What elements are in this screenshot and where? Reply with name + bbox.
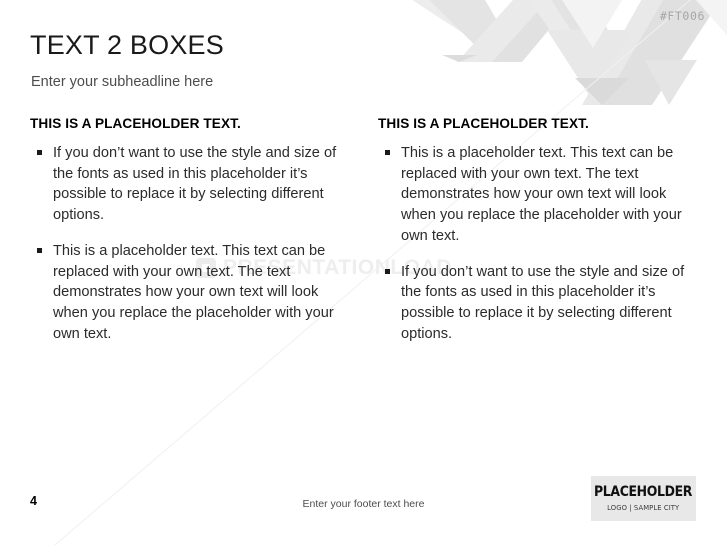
column-heading: THIS IS A PLACEHOLDER TEXT. — [30, 116, 348, 131]
list-item: This is a placeholder text. This text ca… — [378, 143, 698, 247]
list-item-text: This is a placeholder text. This text ca… — [401, 145, 682, 244]
text-box-left: THIS IS A PLACEHOLDER TEXT. If you don’t… — [30, 116, 348, 344]
logo-placeholder: PLACEHOLDER LOGO | SAMPLE CITY — [591, 476, 696, 521]
text-box-right: THIS IS A PLACEHOLDER TEXT. This is a pl… — [378, 116, 698, 344]
list-item-text: If you don’t want to use the style and s… — [401, 264, 684, 342]
template-code-label: #FT006 — [660, 9, 705, 23]
page-subtitle: Enter your subheadline here — [31, 74, 213, 90]
square-bullet-icon — [385, 150, 390, 155]
square-bullet-icon — [37, 248, 42, 253]
list-item: This is a placeholder text. This text ca… — [30, 241, 348, 345]
list-item-text: This is a placeholder text. This text ca… — [53, 243, 334, 342]
logo-primary-text: PLACEHOLDER — [594, 485, 692, 500]
page-title: TEXT 2 BOXES — [30, 31, 224, 59]
list-item: If you don’t want to use the style and s… — [30, 143, 348, 226]
list-item-text: If you don’t want to use the style and s… — [53, 145, 336, 223]
list-item: If you don’t want to use the style and s… — [378, 262, 698, 345]
bullet-list-left: If you don’t want to use the style and s… — [30, 143, 348, 344]
column-heading: THIS IS A PLACEHOLDER TEXT. — [378, 116, 698, 131]
slide-canvas: #FT006 TEXT 2 BOXES Enter your subheadli… — [0, 0, 727, 545]
bullet-list-right: This is a placeholder text. This text ca… — [378, 143, 698, 344]
logo-secondary-text: LOGO | SAMPLE CITY — [607, 503, 679, 512]
square-bullet-icon — [37, 150, 42, 155]
square-bullet-icon — [385, 269, 390, 274]
